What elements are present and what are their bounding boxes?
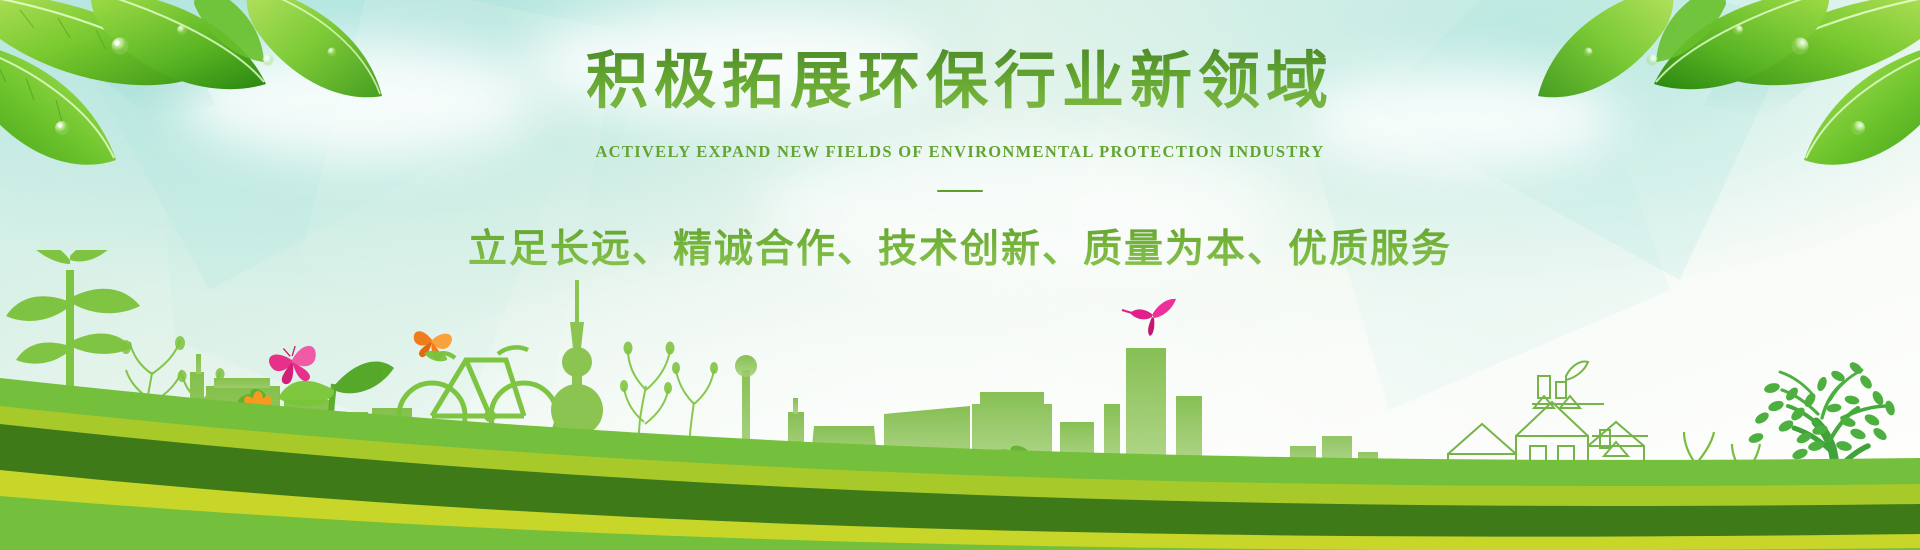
page-title: 积极拓展环保行业新领域 bbox=[0, 48, 1920, 122]
page-subtitle: ACTIVELY EXPAND NEW FIELDS OF ENVIRONMEN… bbox=[0, 142, 1920, 162]
eco-banner: 积极拓展环保行业新领域 ACTIVELY EXPAND NEW FIELDS O… bbox=[0, 0, 1920, 550]
banner-text-block: 积极拓展环保行业新领域 ACTIVELY EXPAND NEW FIELDS O… bbox=[0, 48, 1920, 274]
wave-bands bbox=[0, 320, 1920, 550]
page-slogan: 立足长远、精诚合作、技术创新、质量为本、优质服务 bbox=[0, 218, 1920, 274]
title-divider bbox=[937, 190, 983, 192]
